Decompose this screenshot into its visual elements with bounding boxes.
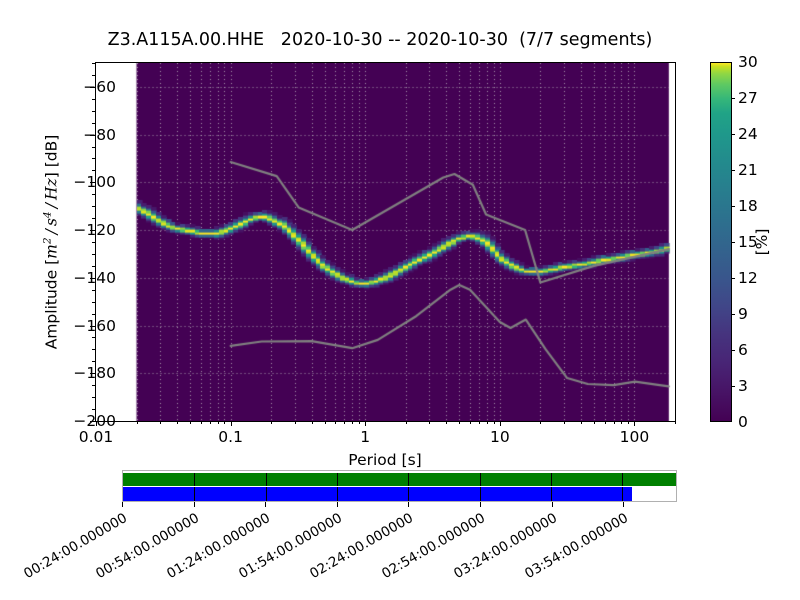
colorbar-tick-label: 24 — [738, 125, 758, 143]
y-tick-mark-minor — [92, 158, 95, 159]
x-tick-mark-minor — [406, 421, 407, 424]
timeline-tick-mark — [265, 502, 266, 507]
y-tick-mark-minor — [92, 409, 95, 410]
x-tick-mark-minor — [479, 421, 480, 424]
x-tick-mark-minor — [177, 421, 178, 424]
y-tick-mark-minor — [92, 290, 95, 291]
x-tick-mark-minor — [540, 421, 541, 424]
timeline-segment-separator — [622, 473, 623, 486]
colorbar-tick-mark — [731, 386, 735, 387]
x-tick-mark-minor — [614, 421, 615, 424]
x-tick-mark-minor — [218, 421, 219, 424]
y-tick-mark-minor — [92, 361, 95, 362]
y-tick-mark — [90, 421, 95, 422]
colorbar-tick-label: 0 — [738, 413, 748, 431]
x-tick-mark — [96, 421, 97, 426]
colorbar-tick-label: 6 — [738, 341, 748, 359]
y-tick-mark-minor — [92, 242, 95, 243]
x-tick-mark-minor — [325, 421, 326, 424]
y-tick-mark-minor — [92, 337, 95, 338]
y-axis-units-math: m2 / s4 / Hz — [43, 178, 61, 259]
timeline-tick-mark — [408, 502, 409, 507]
colorbar-tick-mark — [731, 278, 735, 279]
timeline-segment-separator — [551, 473, 552, 486]
colorbar-tick-mark — [731, 206, 735, 207]
colorbar-tick-mark — [731, 134, 735, 135]
y-tick-mark — [90, 135, 95, 136]
colorbar-tick-label: 27 — [738, 89, 758, 107]
ppsd-figure: Z3.A115A.00.HHE 2020-10-30 -- 2020-10-30… — [0, 0, 800, 600]
timeline-segment-separator — [337, 487, 338, 501]
x-tick-mark-minor — [621, 421, 622, 424]
timeline-green-fill — [123, 473, 676, 486]
ppsd-axes — [95, 62, 676, 422]
timeline-segment-separator — [194, 473, 195, 486]
x-tick-mark-minor — [675, 421, 676, 424]
ppsd-histogram-canvas — [96, 63, 675, 421]
y-tick-mark-minor — [92, 75, 95, 76]
x-tick-mark-minor — [201, 421, 202, 424]
x-tick-mark-minor — [210, 421, 211, 424]
y-tick-mark-minor — [92, 302, 95, 303]
colorbar-tick-mark — [731, 98, 735, 99]
x-tick-label: 0.1 — [218, 428, 243, 446]
colorbar — [710, 62, 732, 422]
y-tick-mark-minor — [92, 397, 95, 398]
x-tick-mark-minor — [564, 421, 565, 424]
timeline-segment-separator — [551, 487, 552, 501]
timeline-tick-mark — [194, 502, 195, 507]
y-tick-mark-minor — [92, 218, 95, 219]
x-tick-mark-minor — [335, 421, 336, 424]
timeline-blue-fill — [123, 487, 632, 501]
y-tick-mark — [90, 230, 95, 231]
y-tick-mark — [90, 326, 95, 327]
timeline-row-data — [123, 487, 676, 501]
x-tick-mark-minor — [137, 421, 138, 424]
y-tick-mark-minor — [92, 314, 95, 315]
x-tick-label: 0.01 — [79, 428, 114, 446]
timeline-segment-separator — [266, 487, 267, 501]
y-tick-mark-minor — [92, 206, 95, 207]
y-tick-mark-minor — [92, 123, 95, 124]
timeline-segment-separator — [266, 473, 267, 486]
timeline-segment-separator — [480, 473, 481, 486]
ppsd-plot-area — [96, 63, 675, 421]
figure-title: Z3.A115A.00.HHE 2020-10-30 -- 2020-10-30… — [0, 30, 760, 50]
y-tick-mark-minor — [92, 111, 95, 112]
x-tick-mark-minor — [344, 421, 345, 424]
timeline-tick-mark — [623, 502, 624, 507]
timeline-tick-mark — [337, 502, 338, 507]
x-tick-mark-minor — [605, 421, 606, 424]
x-tick-mark-minor — [160, 421, 161, 424]
colorbar-tick-mark — [731, 350, 735, 351]
y-tick-label: −180 — [36, 364, 116, 382]
x-tick-mark — [500, 421, 501, 426]
x-axis-label: Period [s] — [348, 451, 421, 469]
x-tick-mark-minor — [628, 421, 629, 424]
y-tick-mark-minor — [92, 194, 95, 195]
y-axis-label: Amplitude [m2 / s4 / Hz] [dB] — [41, 135, 60, 350]
y-axis-label-text: Amplitude [ — [43, 259, 61, 349]
x-tick-mark-minor — [470, 421, 471, 424]
x-tick-mark-minor — [594, 421, 595, 424]
colorbar-tick-label: 18 — [738, 197, 758, 215]
colorbar-tick-mark — [731, 314, 735, 315]
timeline-segment-separator — [194, 487, 195, 501]
colorbar-label: [%] — [753, 229, 771, 256]
y-tick-mark-minor — [92, 266, 95, 267]
x-tick-mark-minor — [312, 421, 313, 424]
y-tick-mark — [90, 87, 95, 88]
x-tick-mark — [634, 421, 635, 426]
x-tick-mark-minor — [359, 421, 360, 424]
y-tick-mark — [90, 373, 95, 374]
x-tick-mark-minor — [459, 421, 460, 424]
x-tick-label: 100 — [620, 428, 650, 446]
x-tick-mark-minor — [446, 421, 447, 424]
colorbar-tick-label: 9 — [738, 305, 748, 323]
x-tick-mark-minor — [487, 421, 488, 424]
timeline-segment-separator — [337, 473, 338, 486]
x-tick-mark-minor — [271, 421, 272, 424]
x-tick-mark-minor — [224, 421, 225, 424]
x-tick-mark-minor — [295, 421, 296, 424]
timeline-segment-separator — [480, 487, 481, 501]
y-tick-mark-minor — [92, 349, 95, 350]
x-tick-mark-minor — [190, 421, 191, 424]
coverage-timeline — [122, 470, 677, 502]
timeline-segment-separator — [408, 487, 409, 501]
y-tick-mark — [90, 278, 95, 279]
timeline-tick-mark — [552, 502, 553, 507]
x-tick-label: 1 — [360, 428, 370, 446]
x-tick-label: 10 — [490, 428, 510, 446]
colorbar-tick-mark — [731, 170, 735, 171]
colorbar-tick-label: 3 — [738, 377, 748, 395]
colorbar-tick-mark — [731, 242, 735, 243]
timeline-row-segments — [123, 473, 676, 486]
y-tick-mark-minor — [92, 147, 95, 148]
x-tick-mark-minor — [581, 421, 582, 424]
timeline-segment-separator — [622, 487, 623, 501]
y-axis-label-suffix: ] [dB] — [43, 135, 61, 179]
timeline-segment-separator — [408, 473, 409, 486]
x-tick-mark — [365, 421, 366, 426]
timeline-tick-mark — [480, 502, 481, 507]
colorbar-tick-label: 12 — [738, 269, 758, 287]
x-tick-mark-minor — [429, 421, 430, 424]
y-tick-mark-minor — [92, 254, 95, 255]
x-tick-mark-minor — [494, 421, 495, 424]
y-tick-label: −60 — [36, 78, 116, 96]
y-tick-mark-minor — [92, 63, 95, 64]
x-tick-mark — [231, 421, 232, 426]
y-tick-mark — [90, 182, 95, 183]
timeline-tick-mark — [122, 502, 123, 507]
y-tick-mark-minor — [92, 99, 95, 100]
y-tick-mark-minor — [92, 170, 95, 171]
y-tick-mark-minor — [92, 385, 95, 386]
x-tick-mark-minor — [352, 421, 353, 424]
colorbar-tick-label: 21 — [738, 161, 758, 179]
colorbar-tick-label: 30 — [738, 53, 758, 71]
